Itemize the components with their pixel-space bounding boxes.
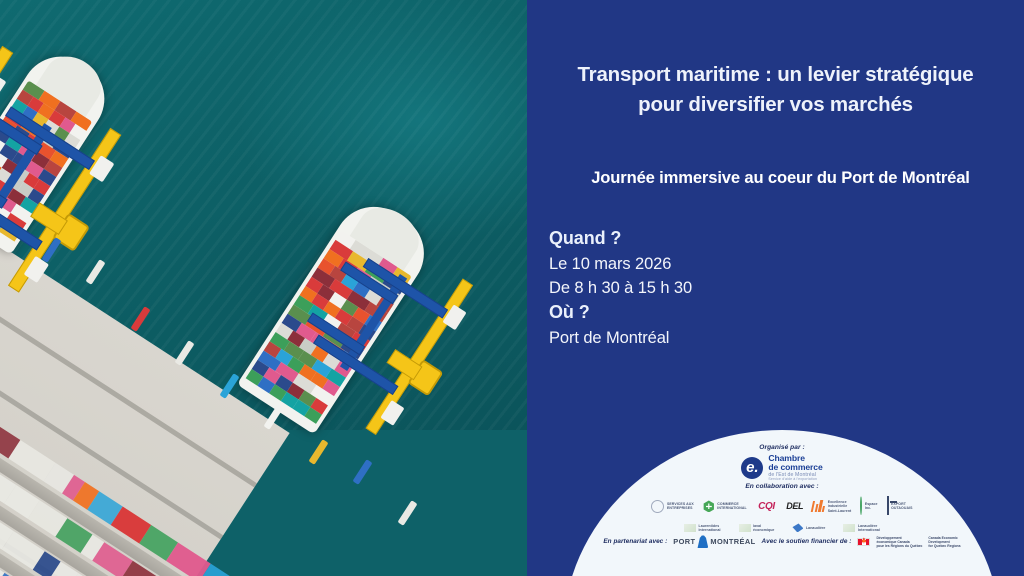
page-title: Transport maritime : un levier stratégiq…: [537, 60, 1014, 120]
logo-lanaudiere-international-label: LanaudièreInternational: [858, 524, 880, 532]
support-caption: Avec le soutien financier de :: [762, 538, 852, 545]
espace-inc-icon: [860, 497, 862, 515]
lanaudiere-partner-icon: [792, 523, 803, 532]
when-date: Le 10 mars 2026: [549, 252, 692, 276]
port-montreal-logo: PORT MONTRÉAL: [673, 535, 755, 548]
logo-espace-inc: EspaceInc.: [860, 497, 877, 515]
funder-en-text: Canada Economic Development for Quebec R…: [928, 536, 960, 549]
collaboration-caption: En collaboration avec :: [563, 483, 1001, 490]
logo-export-outaouais: EXPORTOUTAOUAIS: [887, 497, 913, 515]
logo-stack: Organisé par : e. Chambre de commerce de…: [563, 430, 1001, 548]
funder-fr-text: Développement économique Canada pour les…: [876, 536, 922, 549]
logo-commerce-international: COMMERCEINTERNATIONAL: [703, 500, 747, 512]
logo-excellence-industrielle-saint-laurent-label: ExcellenceindustrielleSaint-Laurent: [828, 500, 852, 512]
organizer-line-4: Service d'aide à l'exportation: [768, 478, 822, 482]
logo-laurentides-international-label: LaurentidesInternational: [699, 524, 721, 532]
logo-laval-economique-label: lavaléconomique: [753, 524, 774, 532]
port-word-2: MONTRÉAL: [710, 537, 755, 546]
event-poster: Transport maritime : un levier stratégiq…: [0, 0, 1024, 576]
laurentides-international-icon: [684, 524, 696, 532]
logo-laval-economique: lavaléconomique: [739, 524, 775, 532]
canada-flag-icon: 🍁: [857, 538, 870, 546]
logo-lanaudiere-international: LanaudièreInternational: [843, 524, 880, 532]
logo-dome: Organisé par : e. Chambre de commerce de…: [563, 430, 1001, 576]
logo-laurentides-international: LaurentidesInternational: [684, 524, 721, 532]
logo-del-label: DEL: [786, 501, 803, 511]
partnership-caption: En partenariat avec :: [603, 538, 667, 545]
logo-del: DEL: [784, 501, 803, 511]
logo-commerce-international-label: COMMERCEINTERNATIONAL: [717, 502, 746, 510]
organized-by-caption: Organisé par :: [563, 444, 1001, 451]
logo-export-outaouais-label: EXPORTOUTAOUAIS: [891, 502, 912, 510]
where-label: Où ?: [549, 300, 692, 326]
collaborator-row-1: SERVICES AUXENTREPRISESCOMMERCEINTERNATI…: [563, 497, 1001, 515]
when-label: Quand ?: [549, 226, 692, 252]
logo-services-aux-entreprises-label: SERVICES AUXENTREPRISES: [667, 502, 694, 510]
title-line-1: Transport maritime : un levier stratégiq…: [537, 60, 1014, 90]
title-line-2: pour diversifier vos marchés: [537, 90, 1014, 120]
logo-espace-inc-label: EspaceInc.: [865, 502, 878, 510]
partnership-row: En partenariat avec : PORT MONTRÉAL Avec…: [563, 535, 1001, 548]
chambre-e-icon: e.: [741, 457, 763, 479]
where-value: Port de Montréal: [549, 326, 692, 350]
collaborator-row-2: LaurentidesInternationallavaléconomiqueL…: [563, 523, 1001, 532]
logo-lanaudiere-partner: Lanaudière: [792, 523, 825, 532]
logo-dome-wrapper: Organisé par : e. Chambre de commerce de…: [527, 416, 1024, 576]
event-details: Quand ? Le 10 mars 2026 De 8 h 30 à 15 h…: [549, 226, 692, 350]
funder-en-3: for Quebec Regions: [928, 544, 960, 548]
when-time: De 8 h 30 à 15 h 30: [549, 276, 692, 300]
excellence-industrielle-saint-laurent-icon: [812, 500, 825, 512]
logo-excellence-industrielle-saint-laurent: ExcellenceindustrielleSaint-Laurent: [812, 500, 851, 512]
services-aux-entreprises-icon: [651, 500, 664, 513]
logo-lanaudiere-partner-label: Lanaudière: [806, 526, 825, 530]
subtitle: Journée immersive au coeur du Port de Mo…: [537, 168, 1024, 188]
export-outaouais-icon: [887, 497, 889, 515]
funder-fr-3: pour les Régions du Québec: [876, 544, 922, 548]
laval-economique-icon: [739, 524, 751, 532]
port-anchor-icon: [697, 535, 708, 548]
organizer-logo: e. Chambre de commerce de l'Est de Montr…: [563, 454, 1001, 481]
commerce-international-icon: [703, 500, 715, 512]
port-word-1: PORT: [673, 537, 695, 546]
logo-services-aux-entreprises: SERVICES AUXENTREPRISES: [651, 500, 693, 513]
port-photo: [0, 0, 527, 576]
lanaudiere-international-icon: [843, 524, 855, 532]
logo-cqi: CQI: [756, 501, 775, 512]
organizer-line-2: de commerce: [768, 463, 822, 472]
